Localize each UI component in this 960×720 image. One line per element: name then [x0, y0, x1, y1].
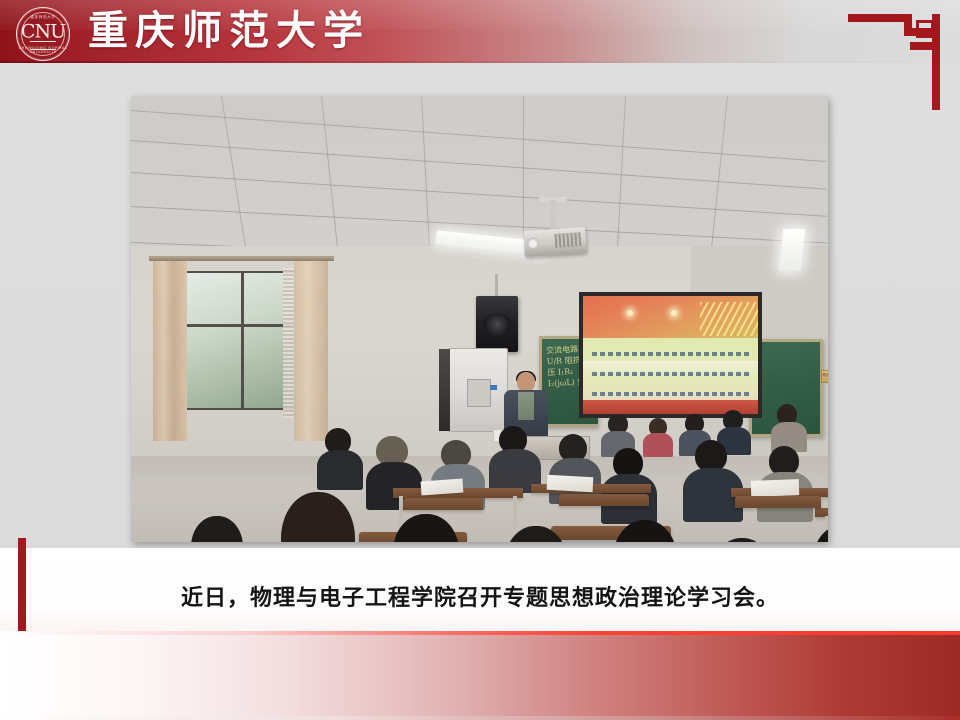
slide-canvas: 重庆师范大学 CNU CHONGQING NORMAL UNIVERSITY 重… [0, 0, 960, 720]
classroom-chair [559, 494, 649, 506]
speaker-bracket-left [495, 274, 498, 298]
handout-paper [751, 479, 800, 497]
projector-pole [550, 200, 556, 232]
meeting-photo-frame: 交流电路 I = U/R 阻抗电压 I₁R₁ I₂(jωL) 频率 教学设备编号 [131, 96, 828, 542]
handout-paper [547, 475, 594, 492]
header-divider [0, 61, 960, 63]
university-name-title: 重庆师范大学 [88, 6, 370, 56]
footer-accent-line [0, 631, 960, 635]
wall-speaker-left-icon [476, 296, 518, 352]
header-banner: 重庆师范大学 CNU CHONGQING NORMAL UNIVERSITY 重… [0, 0, 960, 63]
seal-arc-bottom-text: CHONGQING NORMAL UNIVERSITY [17, 46, 69, 54]
university-seal-icon: 重庆师范大学 CNU CHONGQING NORMAL UNIVERSITY [16, 7, 70, 61]
desk-leg [513, 496, 517, 530]
handout-paper [421, 479, 464, 496]
photo-caption: 近日，物理与电子工程学院召开专题思想政治理论学习会。 [0, 580, 960, 612]
slide-text-line-3 [592, 392, 750, 396]
equipment-plate-text: 教学设备编号 [822, 371, 828, 380]
slide-text-line-1 [592, 352, 750, 356]
equipment-plate: 教学设备编号 [821, 370, 828, 383]
seal-arc-top-text: 重庆师范大学 [17, 15, 69, 20]
projector-vent [554, 232, 581, 248]
ceiling-light-icon [779, 229, 805, 271]
ceiling-projector-icon [523, 227, 587, 257]
slide-sun-rays [700, 302, 758, 336]
slide-light-spot-1 [627, 310, 633, 316]
footer-banner [0, 631, 960, 720]
footer-bottom-edge [0, 716, 960, 720]
projector-lens [527, 237, 540, 250]
water-heater-cabinet [448, 348, 508, 432]
meeting-photo: 交流电路 I = U/R 阻抗电压 I₁R₁ I₂(jωL) 频率 教学设备编号 [131, 96, 828, 542]
corner-ornament-top-right-icon [848, 10, 940, 110]
seal-monogram: CNU [21, 22, 65, 41]
slide-text-line-2 [592, 372, 750, 376]
slide-light-spot-2 [671, 310, 677, 316]
classroom-chair [735, 496, 821, 508]
projection-screen [579, 292, 762, 418]
curtain-left [153, 261, 187, 441]
curtain-right [294, 261, 328, 441]
classroom-chair [403, 498, 483, 510]
